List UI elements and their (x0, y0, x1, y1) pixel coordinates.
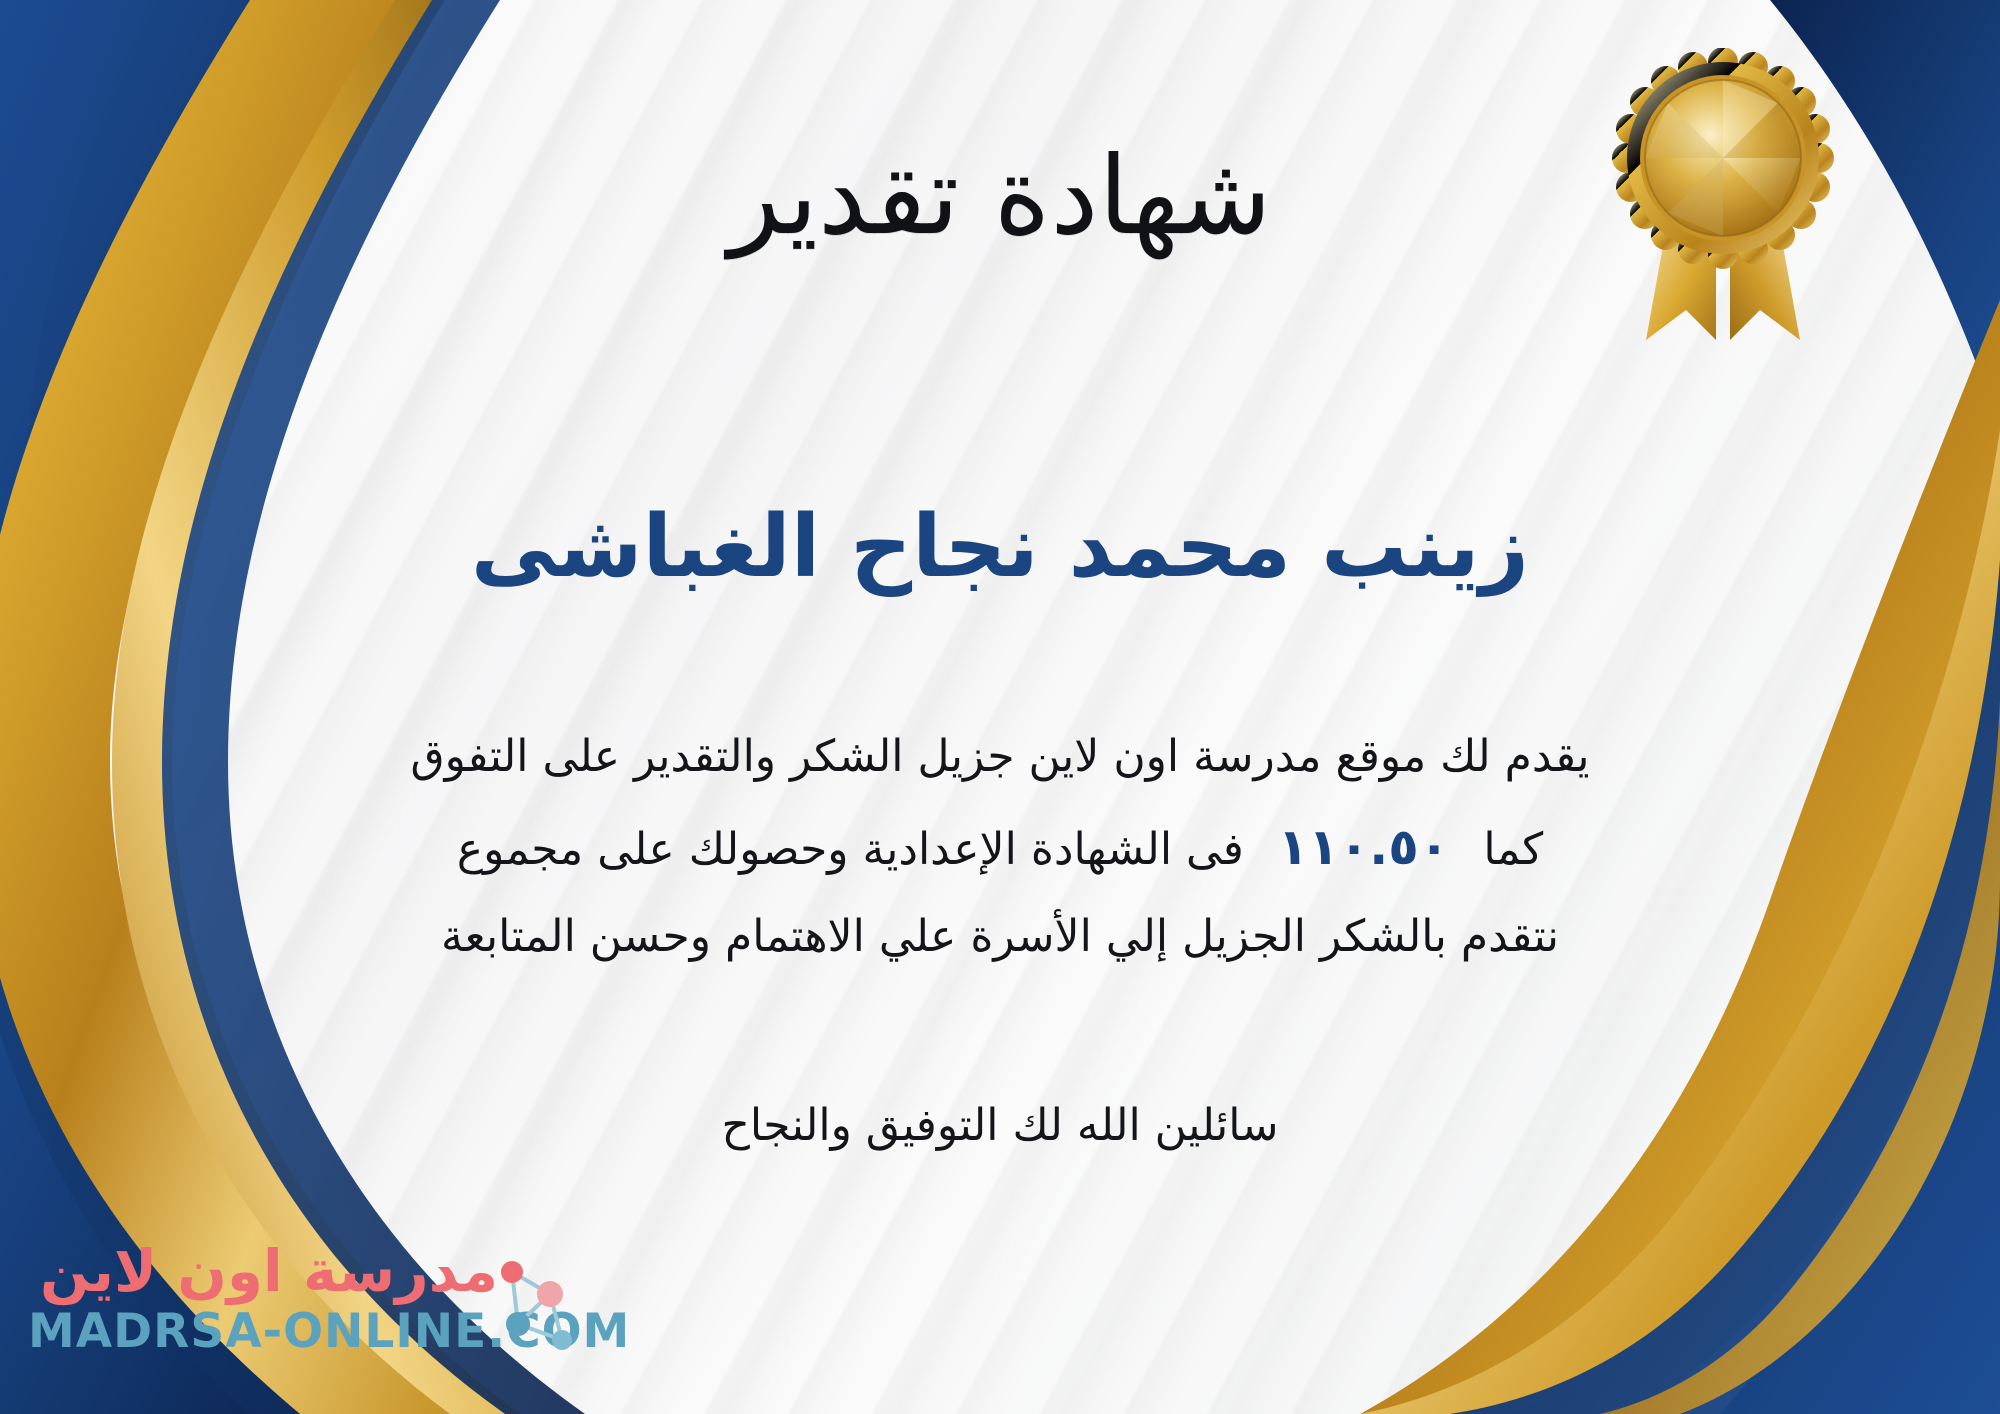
certificate-content: شهادة تقدير زينب محمد نجاح الغباشى يقدم … (0, 0, 2000, 1414)
certificate-page: شهادة تقدير زينب محمد نجاح الغباشى يقدم … (0, 0, 2000, 1414)
body-line-1: يقدم لك موقع مدرسة اون لاين جزيل الشكر و… (200, 715, 1800, 799)
body-line-2: كما١١٠.٥٠فى الشهادة الإعدادية وحصولك على… (200, 799, 1800, 895)
brand-website: MADRSA-ONLINE.COM (28, 1308, 498, 1355)
brand-arabic-name: مدرسة اون لاين (28, 1242, 498, 1300)
recipient-name: زينب محمد نجاح الغباشى (0, 500, 2000, 595)
body-line-3: نتقدم بالشكر الجزيل إلي الأسرة علي الاهت… (200, 895, 1800, 979)
body-line-2-suffix: كما (1483, 824, 1543, 875)
network-nodes-icon (492, 1250, 584, 1358)
body-line-2-prefix: فى الشهادة الإعدادية وحصولك على مجموع (457, 824, 1244, 875)
grade-value: ١١٠.٥٠ (1244, 818, 1484, 876)
closing-line: سائلين الله لك التوفيق والنجاح (0, 1100, 2000, 1151)
brand-logo[interactable]: مدرسة اون لاين MADRSA-ONLINE.COM (28, 1242, 498, 1392)
certificate-body: يقدم لك موقع مدرسة اون لاين جزيل الشكر و… (200, 715, 1800, 980)
certificate-title: شهادة تقدير (0, 140, 2000, 253)
